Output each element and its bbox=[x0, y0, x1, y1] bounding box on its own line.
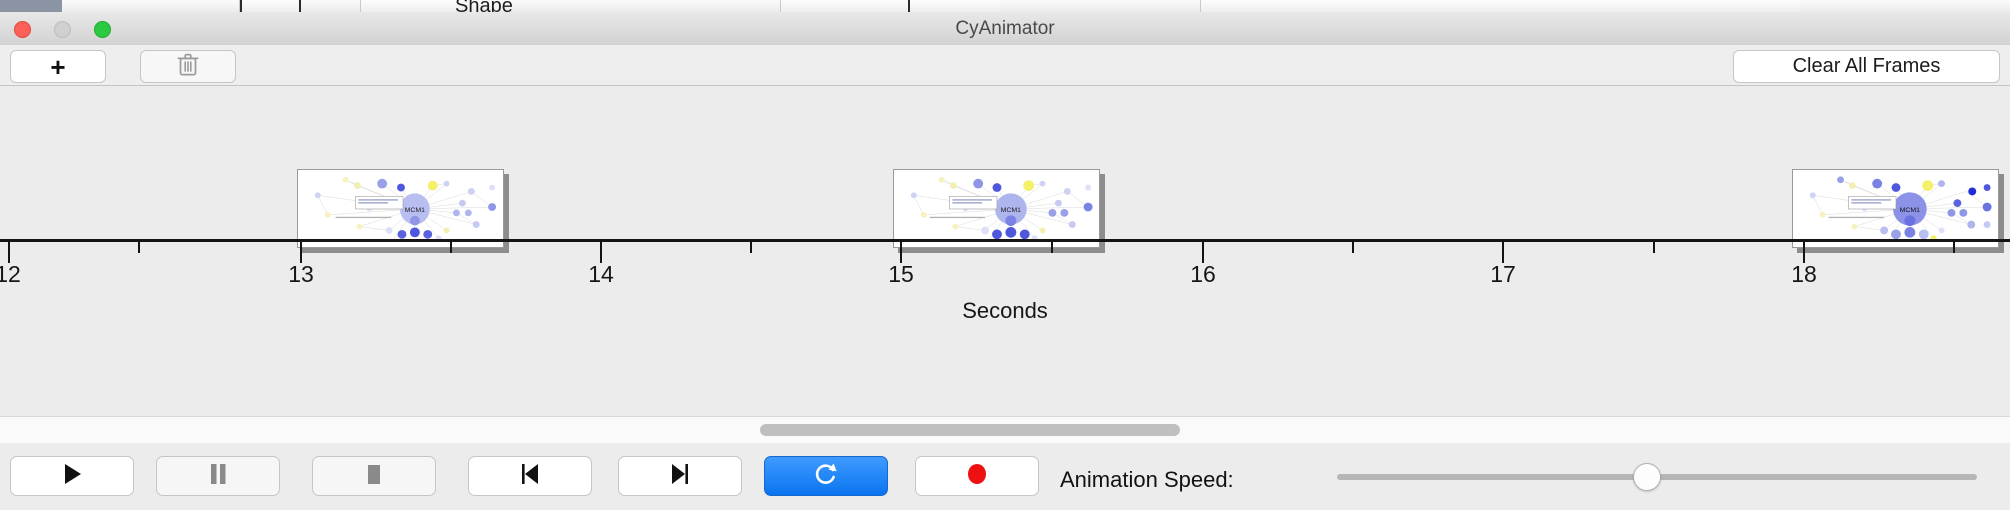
background-window-cell bbox=[187, 0, 240, 12]
svg-text:MCM1: MCM1 bbox=[1001, 207, 1022, 214]
frame-thumbnail: MCM1 bbox=[297, 169, 504, 248]
stop-icon bbox=[364, 462, 384, 491]
axis-tick-label: 15 bbox=[888, 261, 914, 288]
timeline-scrollbar[interactable] bbox=[0, 416, 2010, 444]
play-icon bbox=[61, 462, 83, 491]
clear-all-frames-button[interactable]: Clear All Frames bbox=[1733, 50, 2000, 83]
background-window-titlebar-fragment bbox=[0, 0, 62, 12]
axis-tick-label: 17 bbox=[1490, 261, 1516, 288]
axis-tick-minor bbox=[750, 242, 752, 253]
skip-to-start-button[interactable] bbox=[468, 456, 592, 496]
timeline-frame[interactable]: MCM1 bbox=[893, 169, 1103, 249]
axis-tick-major bbox=[600, 242, 602, 263]
delete-frame-button[interactable] bbox=[140, 50, 236, 83]
network-graph-thumbnail: MCM1 bbox=[894, 170, 1099, 247]
trash-icon bbox=[177, 52, 199, 81]
axis-tick-label: 14 bbox=[588, 261, 614, 288]
pause-button[interactable] bbox=[156, 456, 280, 496]
axis-tick-label: 16 bbox=[1190, 261, 1216, 288]
axis-title-seconds: Seconds bbox=[0, 298, 2010, 324]
svg-text:MCM1: MCM1 bbox=[405, 207, 426, 214]
axis-tick-major bbox=[1803, 242, 1805, 263]
axis-tick-major bbox=[1502, 242, 1504, 263]
record-button[interactable] bbox=[915, 456, 1039, 496]
background-window-divider bbox=[240, 0, 242, 12]
network-graph-thumbnail: MCM1 bbox=[1793, 170, 1998, 247]
skip-back-icon bbox=[519, 462, 541, 491]
axis-tick-major bbox=[900, 242, 902, 263]
animation-speed-label: Animation Speed: bbox=[1060, 467, 1234, 493]
playback-control-bar: Animation Speed: bbox=[0, 443, 2010, 510]
background-window-cell bbox=[1000, 0, 1201, 12]
timeline-frame[interactable]: MCM1 bbox=[1792, 169, 2002, 249]
loop-icon bbox=[814, 461, 838, 492]
record-icon bbox=[965, 462, 989, 491]
axis-tick-major bbox=[8, 242, 10, 263]
axis-tick-major bbox=[300, 242, 302, 263]
axis-tick-label: 18 bbox=[1791, 261, 1817, 288]
background-window-cell bbox=[300, 0, 361, 12]
axis-tick-minor bbox=[138, 242, 140, 253]
frame-thumbnail: MCM1 bbox=[893, 169, 1100, 248]
stop-button[interactable] bbox=[312, 456, 436, 496]
skip-to-end-button[interactable] bbox=[618, 456, 742, 496]
toolbar: + Clear All Frames bbox=[0, 45, 2010, 86]
axis-tick-minor bbox=[450, 242, 452, 253]
title-bar: CyAnimator bbox=[0, 12, 2010, 46]
animation-speed-slider-thumb[interactable] bbox=[1633, 463, 1661, 491]
skip-forward-icon bbox=[669, 462, 691, 491]
axis-tick-minor bbox=[1953, 242, 1955, 253]
frame-thumbnail: MCM1 bbox=[1792, 169, 1999, 248]
axis-tick-minor bbox=[1653, 242, 1655, 253]
axis-tick-major bbox=[1202, 242, 1204, 263]
window-title: CyAnimator bbox=[0, 12, 2010, 45]
background-window-cell bbox=[62, 0, 188, 12]
play-button[interactable] bbox=[10, 456, 134, 496]
plus-icon: + bbox=[50, 54, 65, 80]
axis-tick-label: 13 bbox=[288, 261, 314, 288]
timeline-frame[interactable]: MCM1 bbox=[297, 169, 507, 249]
add-frame-button[interactable]: + bbox=[10, 50, 106, 83]
pause-icon bbox=[208, 462, 228, 491]
axis-tick-label: 12 bbox=[0, 261, 21, 288]
axis-tick-minor bbox=[1352, 242, 1354, 253]
background-window-divider bbox=[299, 0, 301, 12]
background-window-cell bbox=[1800, 0, 2010, 12]
axis-tick-minor bbox=[1051, 242, 1053, 253]
network-graph-thumbnail: MCM1 bbox=[298, 170, 503, 247]
timeline-panel[interactable]: MCM1 bbox=[0, 86, 2010, 416]
background-window-divider bbox=[908, 0, 910, 12]
svg-text:MCM1: MCM1 bbox=[1900, 207, 1921, 214]
scrollbar-thumb[interactable] bbox=[760, 424, 1180, 436]
cyanimator-window: Shape CyAnimator + Clear All Frames bbox=[0, 0, 2010, 510]
loop-button[interactable] bbox=[764, 456, 888, 496]
